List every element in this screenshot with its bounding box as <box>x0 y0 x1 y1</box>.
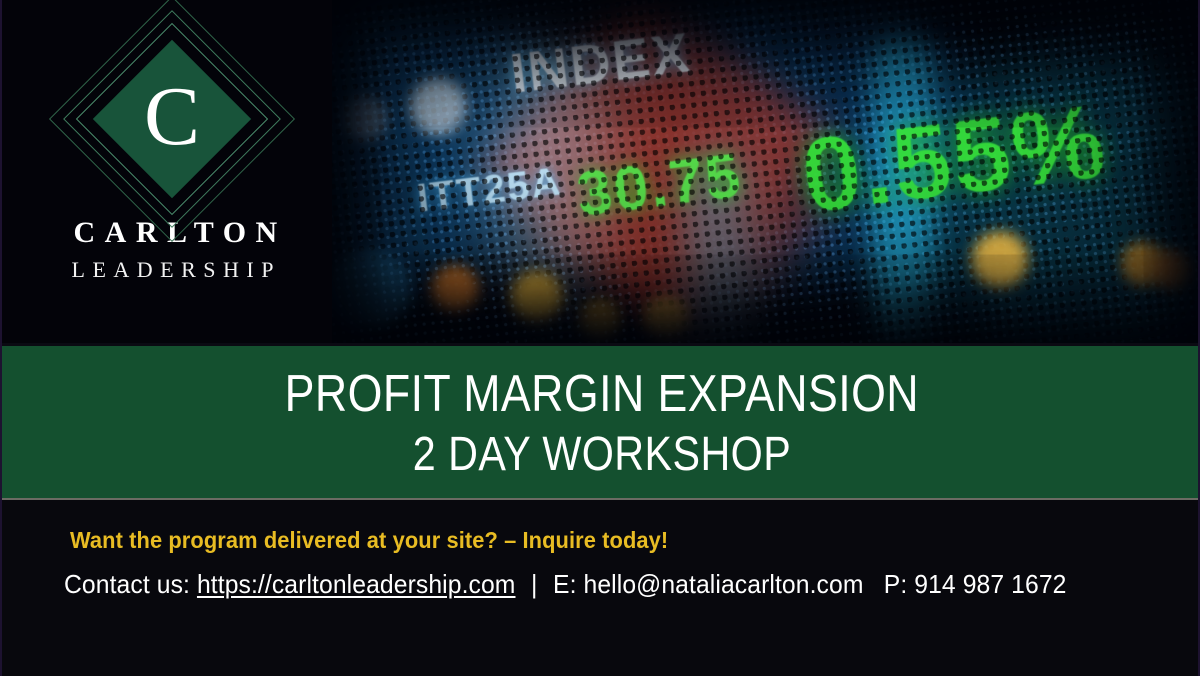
phone-label: P: <box>870 569 907 599</box>
email-address[interactable]: hello@nataliacarlton.com <box>584 569 864 599</box>
stock-ticker-photo: INDEX ITT25A 30.75 0.55% <box>332 0 1200 343</box>
email-label: E: <box>553 569 577 599</box>
banner-title: PROFIT MARGIN EXPANSION <box>285 367 919 422</box>
website-link[interactable]: https://carltonleadership.com <box>197 569 516 599</box>
promo-poster: C CARLTON LEADERSHIP INDEX ITT25A 30.75 … <box>0 0 1200 676</box>
brand-name-secondary: LEADERSHIP <box>64 257 280 283</box>
phone-number[interactable]: 914 987 1672 <box>914 569 1066 599</box>
banner-subtitle: 2 DAY WORKSHOP <box>413 430 791 481</box>
monogram-letter: C <box>64 28 280 210</box>
diamond-emblem: C <box>64 28 280 210</box>
title-banner: PROFIT MARGIN EXPANSION 2 DAY WORKSHOP <box>2 343 1200 501</box>
photo-vignette <box>332 0 1200 343</box>
brand-logo: C CARLTON LEADERSHIP <box>64 28 280 290</box>
contact-separator: | <box>522 569 546 599</box>
footer-section: Want the program delivered at your site?… <box>2 498 1200 676</box>
contact-label: Contact us: <box>64 569 190 599</box>
header-section: C CARLTON LEADERSHIP INDEX ITT25A 30.75 … <box>2 0 1200 343</box>
cta-text: Want the program delivered at your site?… <box>70 527 668 554</box>
contact-line: Contact us: https://carltonleadership.co… <box>64 569 1067 600</box>
